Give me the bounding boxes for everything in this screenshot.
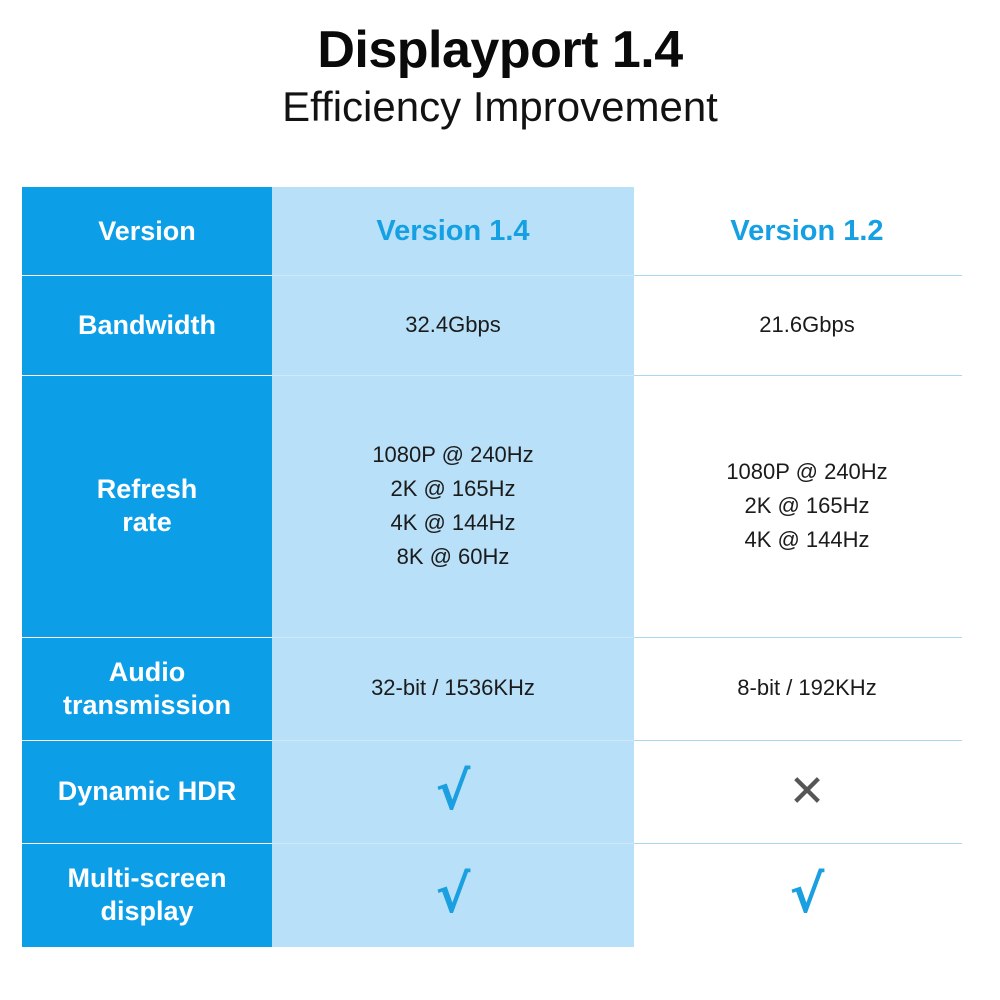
row-label-bandwidth: Bandwidth [22,275,272,375]
table-row: Refresh rate 1080P @ 240Hz 2K @ 165Hz 4K… [22,375,980,637]
cell-value: 32-bit / 1536KHz [371,671,535,705]
column-header-version-1-4: Version 1.4 [272,187,634,275]
header: Displayport 1.4 Efficiency Improvement [0,22,1000,130]
cell-refresh-rate-v14: 1080P @ 240Hz 2K @ 165Hz 4K @ 144Hz 8K @… [272,375,634,637]
row-label-multi-screen-display: Multi-screen display [22,843,272,947]
page-title: Displayport 1.4 [0,22,1000,78]
table-row: Bandwidth 32.4Gbps 21.6Gbps [22,275,980,375]
cell-multi-screen-display-v14: √ [272,843,634,947]
row-label-audio-transmission: Audio transmission [22,637,272,740]
check-icon: √ [436,869,471,921]
table-row: Multi-screen display √ √ [22,843,980,947]
check-icon: √ [790,869,825,921]
comparison-infographic: Displayport 1.4 Efficiency Improvement V… [0,0,1000,1000]
cell-dynamic-hdr-v14: √ [272,740,634,843]
table-row: Dynamic HDR √ ✕ [22,740,980,843]
cross-icon: ✕ [789,770,826,814]
table-row: Audio transmission 32-bit / 1536KHz 8-bi… [22,637,980,740]
page-subtitle: Efficiency Improvement [0,84,1000,130]
column-header-version-1-2: Version 1.2 [634,187,980,275]
row-label-text: Dynamic HDR [58,775,237,808]
cell-value: 1080P @ 240Hz 2K @ 165Hz 4K @ 144Hz [726,455,887,557]
cell-value: 8-bit / 192KHz [737,671,876,705]
row-label-text: Bandwidth [78,309,216,342]
cell-dynamic-hdr-v12: ✕ [634,740,980,843]
table-header-row: Version Version 1.4 Version 1.2 [22,187,980,275]
cell-multi-screen-display-v12: √ [634,843,980,947]
column-header-attribute: Version [22,187,272,275]
cell-value: 32.4Gbps [405,308,500,342]
cell-refresh-rate-v12: 1080P @ 240Hz 2K @ 165Hz 4K @ 144Hz [634,375,980,637]
comparison-table: Version Version 1.4 Version 1.2 Bandwidt… [22,187,980,947]
cell-audio-transmission-v14: 32-bit / 1536KHz [272,637,634,740]
row-label-refresh-rate: Refresh rate [22,375,272,637]
row-label-dynamic-hdr: Dynamic HDR [22,740,272,843]
cell-bandwidth-v12: 21.6Gbps [634,275,980,375]
cell-value: 1080P @ 240Hz 2K @ 165Hz 4K @ 144Hz 8K @… [372,438,533,574]
row-label-text: Refresh rate [97,473,198,539]
cell-value: 21.6Gbps [759,308,854,342]
cell-audio-transmission-v12: 8-bit / 192KHz [634,637,980,740]
check-icon: √ [436,766,471,818]
row-label-text: Multi-screen display [67,862,226,928]
row-label-text: Audio transmission [63,656,231,722]
cell-bandwidth-v14: 32.4Gbps [272,275,634,375]
